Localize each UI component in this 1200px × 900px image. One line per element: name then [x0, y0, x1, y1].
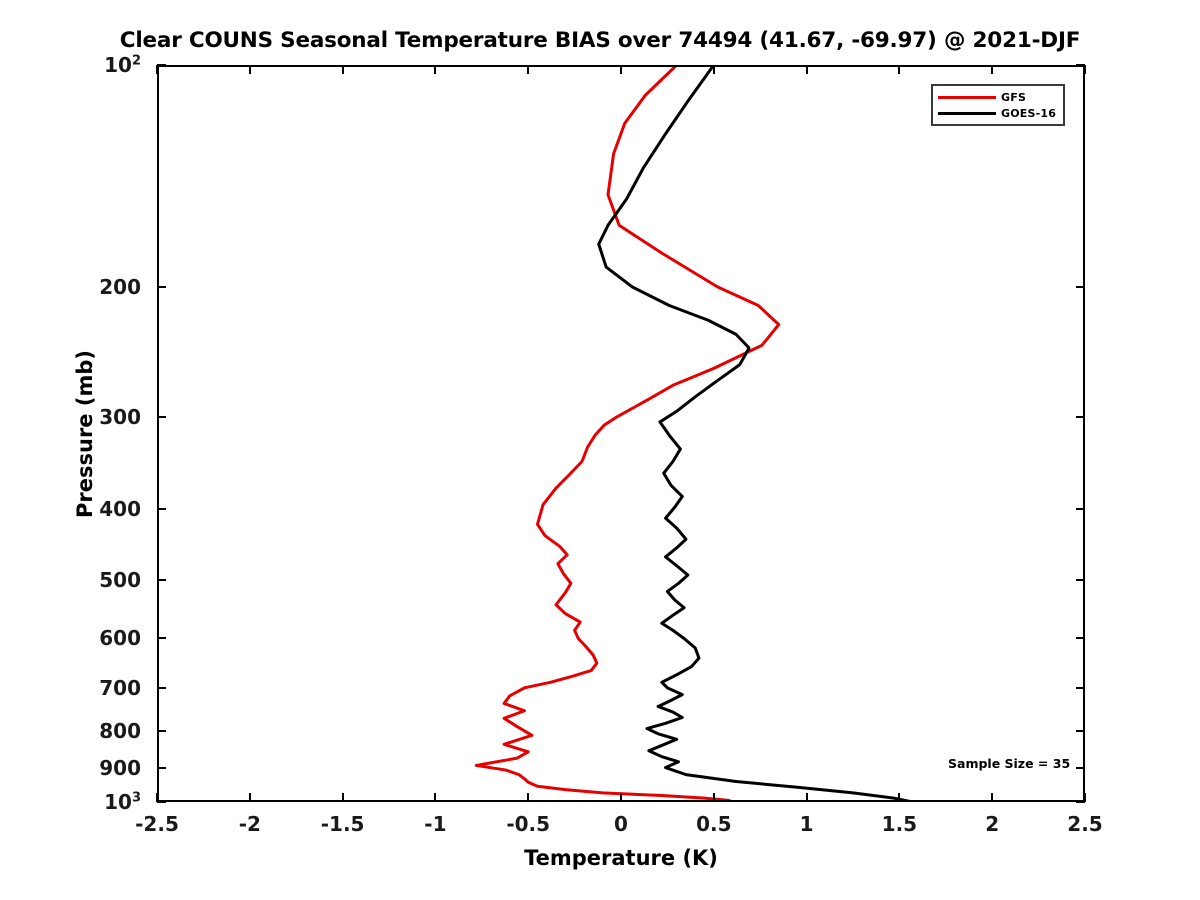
- y-tick-label-100: 102: [104, 53, 141, 77]
- legend-swatch-gfs: [938, 96, 996, 99]
- x-tick-mark-top--0-5: [527, 65, 529, 74]
- x-tick-label-2: 2: [985, 812, 999, 836]
- x-tick-mark--1: [434, 793, 436, 802]
- figure-canvas: Clear COUNS Seasonal Temperature BIAS ov…: [0, 0, 1200, 900]
- y-tick-label-500: 500: [99, 568, 141, 592]
- legend[interactable]: GFS GOES-16: [931, 84, 1065, 126]
- y-tick-mark-right-600: [1076, 637, 1085, 639]
- x-tick-label-1-5: 1.5: [882, 812, 917, 836]
- y-tick-mark-900: [157, 767, 166, 769]
- x-tick-label--1-5: -1.5: [321, 812, 365, 836]
- y-tick-mark-200: [157, 286, 166, 288]
- x-tick-mark-0: [620, 793, 622, 802]
- x-tick-mark-0-5: [713, 793, 715, 802]
- y-tick-mark-800: [157, 730, 166, 732]
- x-tick-mark-top-0-5: [713, 65, 715, 74]
- x-tick-mark-2-5: [1084, 793, 1086, 802]
- sample-size-annotation: Sample Size = 35: [948, 756, 1070, 771]
- x-tick-mark-1: [806, 793, 808, 802]
- y-tick-mark-100: [157, 64, 166, 66]
- x-tick-mark-2: [991, 793, 993, 802]
- x-tick-mark-top-2: [991, 65, 993, 74]
- legend-item-gfs[interactable]: GFS: [938, 91, 1056, 103]
- y-tick-label-300: 300: [99, 405, 141, 429]
- data-lines-svg: [157, 65, 1085, 802]
- y-tick-mark-300: [157, 416, 166, 418]
- x-tick-mark-top-0: [620, 65, 622, 74]
- y-tick-mark-600: [157, 637, 166, 639]
- x-axis-label: Temperature (K): [524, 846, 718, 870]
- x-tick-mark-top--1-5: [342, 65, 344, 74]
- y-tick-mark-right-900: [1076, 767, 1085, 769]
- y-axis-label: Pressure (mb): [73, 350, 97, 518]
- y-tick-mark-1000: [157, 801, 166, 803]
- x-tick-mark--2: [249, 793, 251, 802]
- x-tick-label-2-5: 2.5: [1067, 812, 1102, 836]
- x-tick-mark--0-5: [527, 793, 529, 802]
- y-tick-label-400: 400: [99, 497, 141, 521]
- y-tick-mark-right-700: [1076, 687, 1085, 689]
- x-tick-mark-top--2: [249, 65, 251, 74]
- x-tick-mark-top-1: [806, 65, 808, 74]
- y-tick-label-700: 700: [99, 676, 141, 700]
- legend-label-goes-16: GOES-16: [1001, 107, 1056, 120]
- x-tick-mark-top--2-5: [156, 65, 158, 74]
- x-tick-label--2: -2: [239, 812, 261, 836]
- y-tick-mark-500: [157, 579, 166, 581]
- x-tick-label--1: -1: [424, 812, 446, 836]
- y-tick-label-900: 900: [99, 756, 141, 780]
- y-tick-mark-400: [157, 508, 166, 510]
- x-tick-mark-top-1-5: [898, 65, 900, 74]
- x-tick-label-0-5: 0.5: [696, 812, 731, 836]
- x-tick-mark-top-2-5: [1084, 65, 1086, 74]
- y-tick-mark-right-400: [1076, 508, 1085, 510]
- y-tick-mark-right-500: [1076, 579, 1085, 581]
- series-line-gfs: [476, 65, 779, 802]
- y-tick-label-200: 200: [99, 275, 141, 299]
- plot-area: 102200300400500600700800900103 -2.5-2-1.…: [157, 65, 1085, 802]
- y-tick-mark-700: [157, 687, 166, 689]
- legend-item-goes-16[interactable]: GOES-16: [938, 107, 1056, 119]
- y-tick-mark-right-300: [1076, 416, 1085, 418]
- legend-label-gfs: GFS: [1001, 91, 1026, 104]
- x-tick-mark-1-5: [898, 793, 900, 802]
- x-tick-mark--1-5: [342, 793, 344, 802]
- x-tick-label-1: 1: [800, 812, 814, 836]
- x-tick-label--2-5: -2.5: [135, 812, 179, 836]
- series-line-goes-16: [599, 65, 913, 802]
- y-tick-label-1000: 103: [104, 790, 141, 814]
- y-tick-mark-right-200: [1076, 286, 1085, 288]
- y-tick-mark-right-800: [1076, 730, 1085, 732]
- x-tick-label-0: 0: [614, 812, 628, 836]
- x-tick-mark--2-5: [156, 793, 158, 802]
- page-title: Clear COUNS Seasonal Temperature BIAS ov…: [0, 28, 1200, 53]
- y-tick-label-600: 600: [99, 626, 141, 650]
- y-tick-label-800: 800: [99, 719, 141, 743]
- legend-swatch-goes-16: [938, 112, 996, 115]
- x-tick-label--0-5: -0.5: [506, 812, 550, 836]
- x-tick-mark-top--1: [434, 65, 436, 74]
